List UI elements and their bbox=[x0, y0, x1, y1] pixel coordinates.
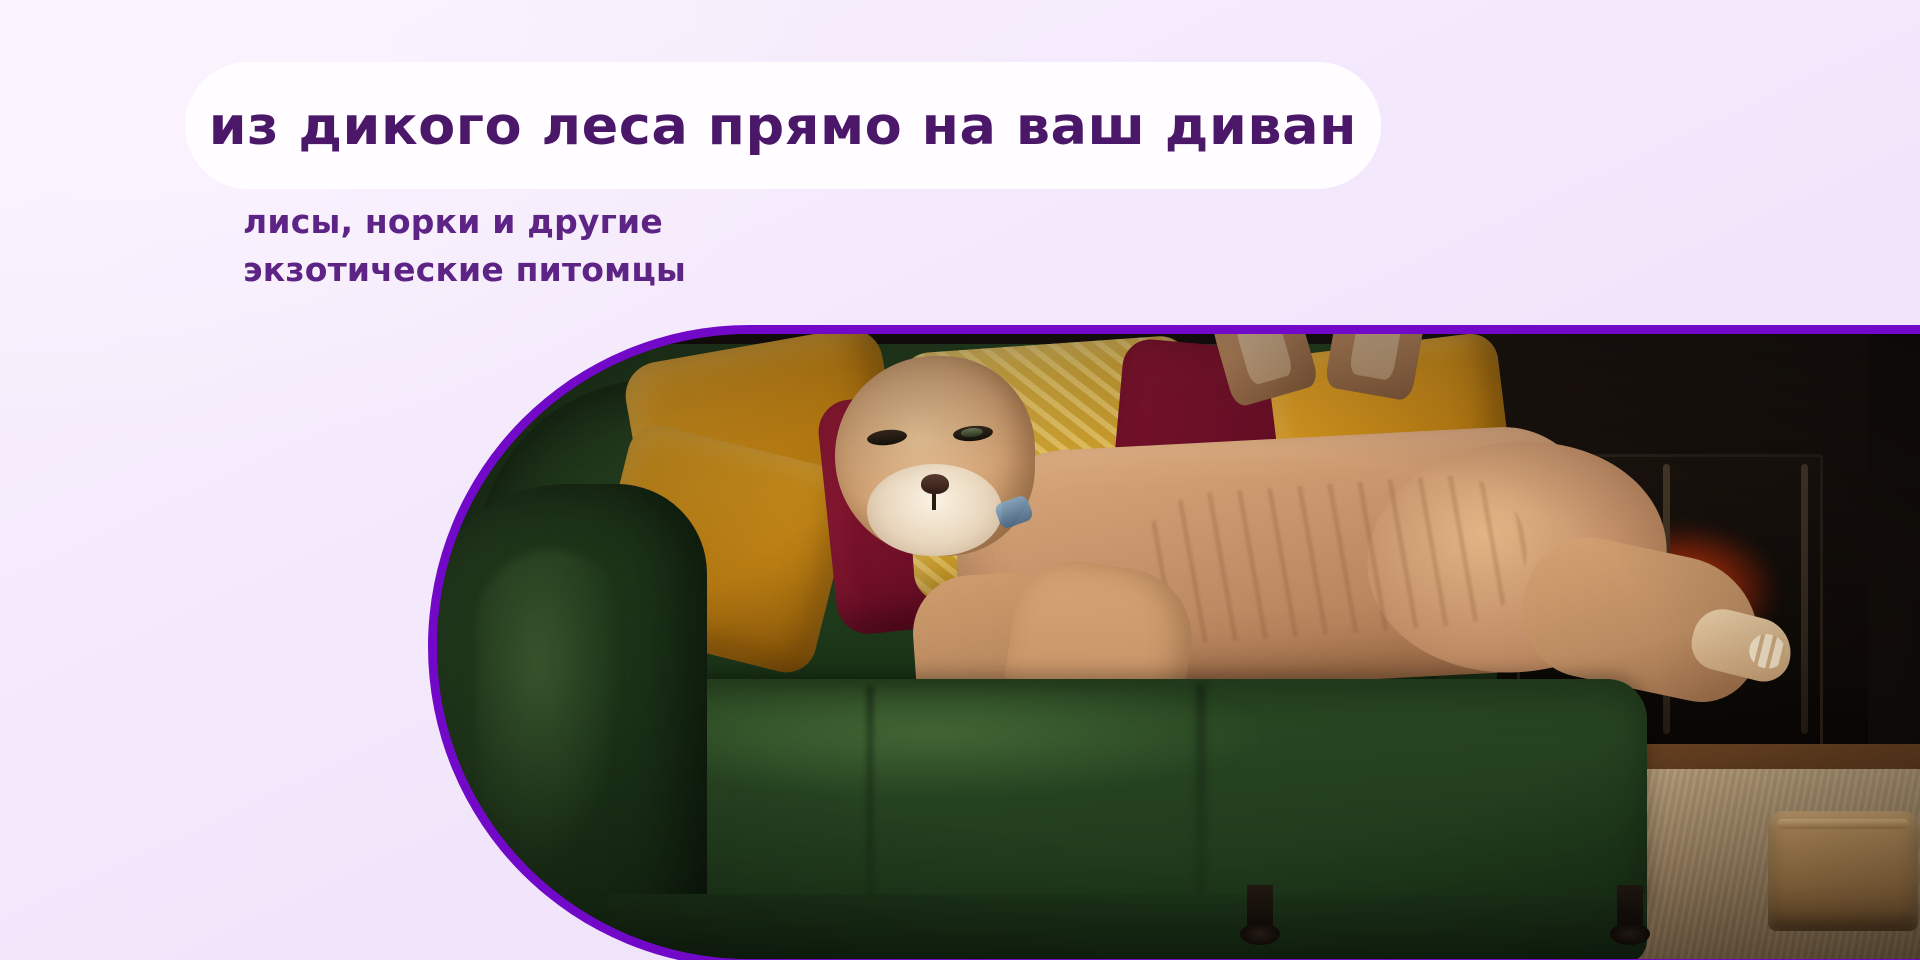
caracal-nose bbox=[921, 474, 949, 494]
caracal-ear-inner-left bbox=[1226, 334, 1294, 386]
sofa-arm-highlight bbox=[477, 549, 627, 879]
headline-pill: из дикого леса прямо на ваш диван bbox=[185, 62, 1381, 189]
subtitle: лисы, норки и другие экзотические питомц… bbox=[243, 198, 686, 294]
hero-photo-panel bbox=[428, 325, 1920, 960]
sofa-leg-left bbox=[1247, 885, 1273, 937]
subtitle-line-2: экзотические питомцы bbox=[243, 246, 686, 294]
caracal-fur-stripes bbox=[1132, 471, 1532, 648]
wicker-basket bbox=[1768, 811, 1918, 931]
caracal-ear-inner-right bbox=[1349, 334, 1408, 381]
caracal-on-sofa-photo bbox=[437, 334, 1920, 959]
sofa-seat-highlight bbox=[657, 689, 1277, 799]
fireplace-bar-left bbox=[1801, 464, 1808, 734]
page-title: из дикого леса прямо на ваш диван bbox=[209, 100, 1357, 153]
sofa-leg-right bbox=[1617, 885, 1643, 937]
promo-banner: из дикого леса прямо на ваш диван лисы, … bbox=[0, 0, 1920, 960]
sofa-skirt bbox=[607, 894, 1647, 959]
caracal-mouth bbox=[932, 494, 936, 510]
sofa-seat-crease-left bbox=[867, 686, 873, 914]
sofa-seat-crease-right bbox=[1197, 684, 1205, 914]
subtitle-line-1: лисы, норки и другие bbox=[243, 198, 686, 246]
